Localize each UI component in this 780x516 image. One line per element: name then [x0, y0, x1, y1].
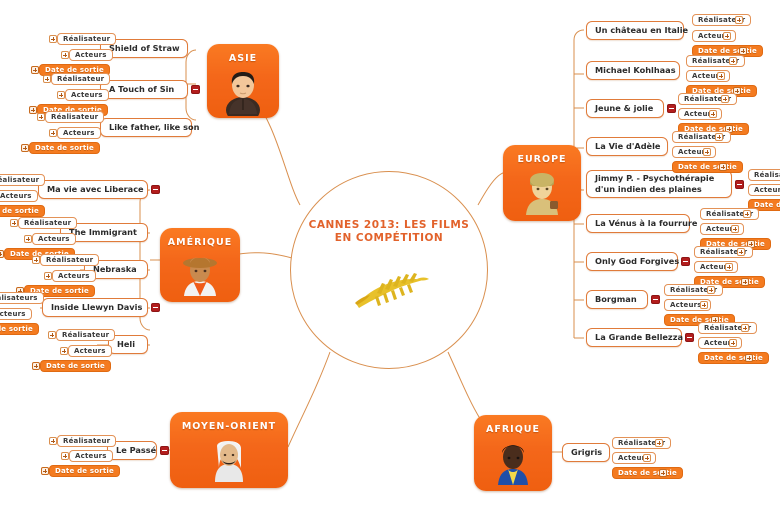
expand-badge[interactable]	[24, 235, 32, 243]
film-title: Nebraska	[93, 264, 137, 275]
expand-badge[interactable]	[719, 163, 727, 171]
leaf-label: Acteurs	[63, 129, 95, 137]
collapse-badge[interactable]	[151, 303, 160, 312]
film-node[interactable]: Jimmy P. - Psychothérapie d'un indien de…	[586, 170, 732, 198]
leaf-realisateurs[interactable]: Réalisateurs	[0, 292, 44, 304]
leaf-acteurs[interactable]: Acteurs	[32, 233, 76, 245]
leaf-label: Acteurs	[58, 272, 90, 280]
leaf-acteurs[interactable]: Acteurs	[0, 308, 32, 320]
expand-badge[interactable]	[729, 339, 737, 347]
film-node[interactable]: Michael Kohlhaas	[586, 61, 680, 80]
leaf-label: Date de sortie	[46, 362, 105, 370]
expand-badge[interactable]	[709, 110, 717, 118]
film-node[interactable]: Grigris	[562, 443, 610, 462]
branch-node-europe[interactable]: EUROPE	[503, 145, 581, 221]
leaf-date[interactable]: Date de sortie	[672, 161, 743, 173]
leaf-label: Date de sortie	[698, 47, 757, 55]
expand-badge[interactable]	[741, 278, 749, 286]
leaf-acteurs[interactable]: Acteurs	[69, 450, 113, 462]
expand-badge[interactable]	[700, 301, 708, 309]
collapse-badge[interactable]	[667, 104, 676, 113]
leaf-label: Date de sortie	[704, 354, 763, 362]
branch-node-moyen-orient[interactable]: MOYEN-ORIENT	[170, 412, 288, 488]
film-title: La Vénus à la fourrure	[595, 218, 697, 229]
leaf-label: Date de sortie	[678, 163, 737, 171]
collapse-badge[interactable]	[160, 446, 169, 455]
expand-badge[interactable]	[32, 256, 40, 264]
leaf-date[interactable]: Date de sortie	[49, 465, 120, 477]
leaf-realisateur[interactable]: Réalisateur	[40, 254, 99, 266]
expand-badge[interactable]	[739, 47, 747, 55]
expand-badge[interactable]	[729, 57, 737, 65]
page-title: CANNES 2013: LES FILMS EN COMPÉTITION	[303, 219, 475, 245]
leaf-acteurs[interactable]: Acteurs	[68, 345, 112, 357]
mindmap-canvas: CANNES 2013: LES FILMS EN COMPÉTITION	[0, 0, 780, 516]
collapse-badge[interactable]	[685, 333, 694, 342]
leaf-label: Réalisateurs	[0, 294, 38, 302]
film-title: The Immigrant	[69, 227, 137, 238]
expand-badge[interactable]	[60, 347, 68, 355]
asian-man-avatar	[221, 66, 265, 118]
expand-badge[interactable]	[31, 66, 39, 74]
film-node[interactable]: La Vie d'Adèle	[586, 137, 668, 156]
soldier-avatar	[519, 167, 565, 221]
film-node[interactable]: Un château en Italie	[586, 21, 684, 40]
film-title: La Grande Bellezza	[595, 332, 683, 343]
leaf-realisateur[interactable]: Réalisateur	[56, 329, 115, 341]
branch-label-moyen-orient: MOYEN-ORIENT	[182, 421, 276, 432]
leaf-label: Acteurs	[75, 51, 107, 59]
film-node[interactable]: La Grande Bellezza	[586, 328, 682, 347]
film-title: Un château en Italie	[595, 25, 688, 36]
branch-label-europe: EUROPE	[517, 154, 566, 165]
expand-badge[interactable]	[643, 454, 651, 462]
film-title: A Touch of Sin	[109, 84, 174, 95]
expand-badge[interactable]	[745, 354, 753, 362]
film-title: Ma vie avec Liberace	[47, 184, 144, 195]
african-man-avatar	[490, 437, 536, 491]
leaf-realisateur[interactable]: Réalisateur	[45, 111, 104, 123]
expand-badge[interactable]	[707, 286, 715, 294]
expand-badge[interactable]	[731, 225, 739, 233]
film-node[interactable]: Like father, like son	[100, 118, 192, 137]
branch-label-asie: ASIE	[229, 53, 257, 64]
expand-badge[interactable]	[715, 133, 723, 141]
golden-palm-icon	[347, 269, 431, 319]
branch-node-afrique[interactable]: AFRIQUE	[474, 415, 552, 491]
film-title: Like father, like son	[109, 122, 199, 133]
film-title: Borgman	[595, 294, 637, 305]
leaf-label: Acteurs	[38, 235, 70, 243]
expand-badge[interactable]	[741, 324, 749, 332]
collapse-badge[interactable]	[151, 185, 160, 194]
expand-badge[interactable]	[717, 72, 725, 80]
leaf-realisateur[interactable]: Réalisateur	[57, 435, 116, 447]
film-title: Heli	[117, 339, 135, 350]
expand-badge[interactable]	[703, 148, 711, 156]
expand-badge[interactable]	[29, 106, 37, 114]
leaf-label: Date de sortie	[754, 201, 780, 209]
leaf-date[interactable]: Date de sortie	[40, 360, 111, 372]
leaf-label: Date de sortie	[35, 144, 94, 152]
expand-badge[interactable]	[49, 35, 57, 43]
leaf-label: Date de sortie	[618, 469, 677, 477]
film-title: Le Passé	[116, 445, 156, 456]
leaf-label: Réalisateur	[51, 113, 98, 121]
film-title: Shield of Straw	[109, 43, 180, 54]
leaf-date[interactable]: Date de sortie	[29, 142, 100, 154]
leaf-acteurs[interactable]: Acteurs	[0, 190, 38, 202]
leaf-label: Réalisateur	[46, 256, 93, 264]
leaf-acteurs[interactable]: Acteurs	[52, 270, 96, 282]
film-node[interactable]: Only God Forgives	[586, 252, 678, 271]
leaf-date[interactable]: Date de sortie	[0, 205, 45, 217]
expand-badge[interactable]	[723, 32, 731, 40]
collapse-badge[interactable]	[191, 85, 200, 94]
expand-badge[interactable]	[735, 16, 743, 24]
expand-badge[interactable]	[61, 452, 69, 460]
expand-badge[interactable]	[0, 250, 4, 258]
leaf-realisateur[interactable]: Réalisateur	[57, 33, 116, 45]
film-title: Jeune & jolie	[595, 103, 653, 114]
branch-label-amerique: AMÉRIQUE	[168, 237, 232, 248]
leaf-label: Acteurs	[0, 192, 32, 200]
expand-badge[interactable]	[49, 437, 57, 445]
expand-badge[interactable]	[10, 219, 18, 227]
film-title: Michael Kohlhaas	[595, 65, 676, 76]
leaf-label: Date de sortie	[0, 325, 33, 333]
arab-man-avatar	[206, 434, 252, 488]
leaf-date[interactable]: Date de sortie	[612, 467, 683, 479]
leaf-label: Réalisateur	[24, 219, 71, 227]
leaf-label: Date de sortie	[0, 207, 39, 215]
expand-badge[interactable]	[48, 331, 56, 339]
leaf-label: Réalisateur	[63, 35, 110, 43]
leaf-realisateur[interactable]: Réalisateur	[0, 174, 45, 186]
expand-badge[interactable]	[655, 439, 663, 447]
central-node[interactable]: CANNES 2013: LES FILMS EN COMPÉTITION	[290, 171, 488, 369]
film-node[interactable]: Jeune & jolie	[586, 99, 664, 118]
leaf-label: Acteurs	[74, 347, 106, 355]
expand-badge[interactable]	[44, 272, 52, 280]
expand-badge[interactable]	[21, 144, 29, 152]
film-node[interactable]: Borgman	[586, 290, 648, 309]
expand-badge[interactable]	[43, 75, 51, 83]
expand-badge[interactable]	[41, 467, 49, 475]
film-node[interactable]: Inside Llewyn Davis	[42, 298, 148, 317]
film-node[interactable]: Ma vie avec Liberace	[38, 180, 148, 199]
expand-badge[interactable]	[49, 129, 57, 137]
expand-badge[interactable]	[61, 51, 69, 59]
expand-badge[interactable]	[37, 113, 45, 121]
branch-node-asie[interactable]: ASIE	[207, 44, 279, 118]
collapse-badge[interactable]	[651, 295, 660, 304]
film-title: La Vie d'Adèle	[595, 141, 660, 152]
expand-badge[interactable]	[721, 95, 729, 103]
expand-badge[interactable]	[32, 362, 40, 370]
leaf-label: Date de sortie	[55, 467, 114, 475]
leaf-label: Réalisateur	[754, 171, 780, 179]
collapse-badge[interactable]	[681, 257, 690, 266]
leaf-label: Acteurs	[754, 186, 780, 194]
leaf-label: Réalisateur	[62, 331, 109, 339]
film-title: Inside Llewyn Davis	[51, 302, 142, 313]
leaf-date[interactable]: Date de sortie	[0, 323, 39, 335]
leaf-realisateur[interactable]: Réalisateur	[748, 169, 780, 181]
leaf-acteurs[interactable]: Acteurs	[57, 127, 101, 139]
leaf-realisateur[interactable]: Réalisateur	[51, 73, 110, 85]
expand-badge[interactable]	[57, 91, 65, 99]
leaf-acteurs[interactable]: Acteurs	[65, 89, 109, 101]
leaf-label: Réalisateur	[0, 176, 39, 184]
leaf-label: Réalisateur	[57, 75, 104, 83]
cowboy-avatar	[177, 250, 223, 302]
leaf-date[interactable]: Date de sortie	[698, 352, 769, 364]
branch-node-amerique[interactable]: AMÉRIQUE	[160, 228, 240, 302]
expand-badge[interactable]	[659, 469, 667, 477]
film-title: Only God Forgives	[595, 256, 679, 267]
film-title: Jimmy P. - Psychothérapie d'un indien de…	[595, 173, 723, 195]
leaf-acteurs[interactable]: Acteurs	[69, 49, 113, 61]
collapse-badge[interactable]	[735, 180, 744, 189]
expand-badge[interactable]	[743, 210, 751, 218]
leaf-realisateur[interactable]: Réalisateur	[18, 217, 77, 229]
leaf-label: Acteurs	[0, 310, 26, 318]
leaf-acteurs[interactable]: Acteurs	[748, 184, 780, 196]
leaf-label: Acteurs	[75, 452, 107, 460]
expand-badge[interactable]	[725, 263, 733, 271]
film-node[interactable]: A Touch of Sin	[100, 80, 188, 99]
leaf-label: Réalisateur	[63, 437, 110, 445]
film-node[interactable]: La Vénus à la fourrure	[586, 214, 690, 233]
branch-label-afrique: AFRIQUE	[486, 424, 540, 435]
expand-badge[interactable]	[737, 248, 745, 256]
leaf-label: Acteurs	[71, 91, 103, 99]
film-title: Grigris	[571, 447, 602, 458]
